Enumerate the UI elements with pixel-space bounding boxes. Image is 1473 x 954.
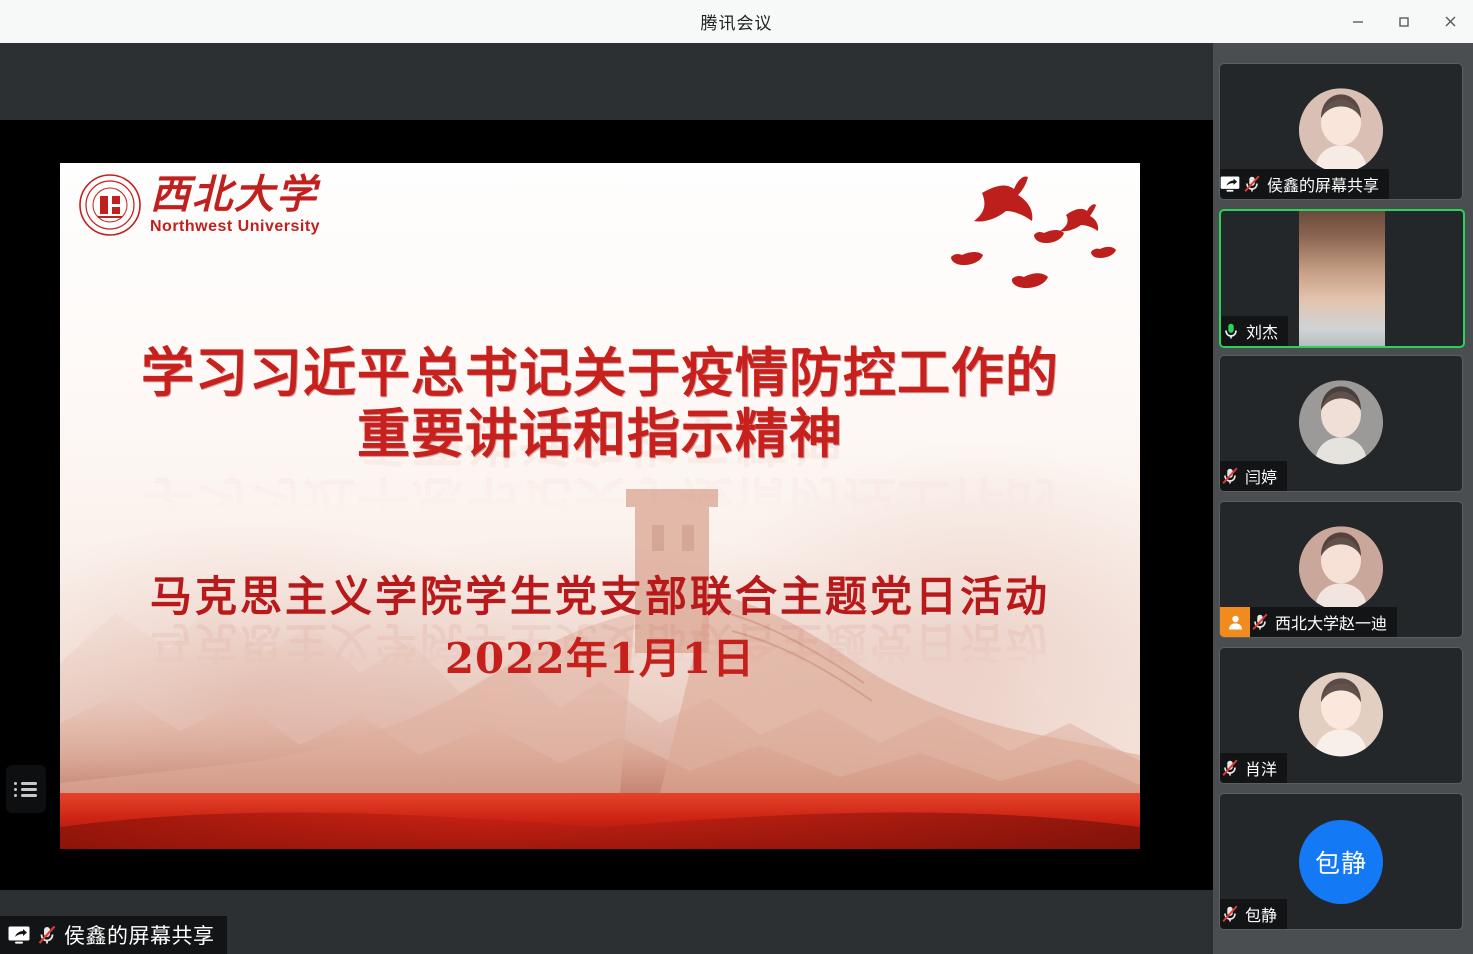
- participant-name: 西北大学赵一迪: [1275, 610, 1387, 634]
- shared-slide: 西北大学 Northwest University 学习习近平总书记关于疫情防控…: [60, 163, 1140, 849]
- window-title: 腾讯会议: [701, 9, 773, 34]
- list-icon[interactable]: [6, 765, 46, 813]
- flying-birds-icon: [940, 171, 1130, 301]
- mic-muted-icon: [1220, 758, 1240, 778]
- university-name-en: Northwest University: [150, 218, 320, 236]
- participant-name: 肖洋: [1245, 756, 1277, 780]
- avatar: [1299, 380, 1383, 464]
- mic-muted-icon: [1242, 174, 1262, 194]
- maximize-button[interactable]: [1381, 0, 1427, 43]
- tencent-meeting-window: 腾讯会议: [0, 0, 1473, 954]
- participant-tile[interactable]: 西北大学赵一迪: [1219, 501, 1463, 638]
- mic-muted-icon: [1220, 904, 1240, 924]
- mic-muted-icon: [36, 924, 58, 946]
- participant-tile[interactable]: 肖洋: [1219, 647, 1463, 784]
- participant-name: 闫婷: [1245, 464, 1277, 488]
- university-seal-icon: [78, 173, 142, 237]
- window-controls: [1335, 0, 1473, 43]
- university-logo: 西北大学 Northwest University: [78, 173, 320, 237]
- screen-share-icon: [8, 926, 30, 944]
- participant-tile[interactable]: 包静包静: [1219, 793, 1463, 930]
- close-button[interactable]: [1427, 0, 1473, 43]
- minimize-button[interactable]: [1335, 0, 1381, 43]
- headline-line-1: 学习习近平总书记关于疫情防控工作的: [141, 343, 1059, 404]
- mic-muted-icon: [1220, 466, 1240, 486]
- mic-active-icon: [1221, 321, 1241, 341]
- participant-nameplate: 西北大学赵一迪: [1220, 607, 1397, 637]
- university-name-cn: 西北大学: [150, 175, 320, 215]
- avatar: 包静: [1299, 820, 1383, 904]
- screen-share-icon: [1220, 176, 1240, 192]
- avatar: [1299, 88, 1383, 172]
- participant-name: 侯鑫的屏幕共享: [1267, 172, 1379, 196]
- avatar: [1299, 672, 1383, 756]
- slide-date: 2022年1月1日: [60, 625, 1140, 686]
- participant-tile[interactable]: 闫婷: [1219, 355, 1463, 492]
- participant-nameplate: 侯鑫的屏幕共享: [1220, 169, 1389, 199]
- stage-share-label-text: 侯鑫的屏幕共享: [64, 920, 215, 950]
- participant-nameplate: 肖洋: [1220, 753, 1287, 783]
- stage-share-label: 侯鑫的屏幕共享: [0, 916, 227, 954]
- participant-nameplate: 刘杰: [1221, 316, 1288, 346]
- host-badge: [1220, 607, 1250, 637]
- participant-nameplate: 闫婷: [1220, 461, 1287, 491]
- participant-nameplate: 包静: [1220, 899, 1287, 929]
- slide-subtitle: 马克思主义学院学生党支部联合主题党日活动: [60, 563, 1140, 624]
- slide-headline: 学习习近平总书记关于疫情防控工作的 重要讲话和指示精神: [60, 343, 1140, 466]
- mic-muted-icon: [1250, 612, 1270, 632]
- participants-sidebar[interactable]: 侯鑫的屏幕共享刘杰闫婷西北大学赵一迪肖洋包静包静: [1213, 43, 1473, 954]
- headline-line-2: 重要讲话和指示精神: [60, 404, 1140, 465]
- title-bar: 腾讯会议: [0, 0, 1473, 44]
- shared-screen-stage: 西北大学 Northwest University 学习习近平总书记关于疫情防控…: [0, 43, 1213, 954]
- red-ribbon-decoration: [60, 787, 1140, 849]
- participant-tile[interactable]: 刘杰: [1219, 209, 1465, 348]
- avatar: [1299, 526, 1383, 610]
- participant-tile[interactable]: 侯鑫的屏幕共享: [1219, 63, 1463, 200]
- participant-name: 包静: [1245, 902, 1277, 926]
- participant-name: 刘杰: [1246, 319, 1278, 343]
